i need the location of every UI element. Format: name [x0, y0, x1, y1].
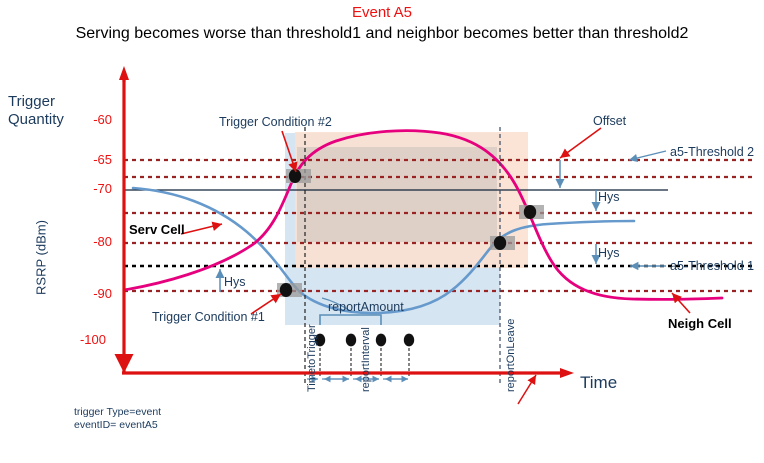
report-dot-4: [404, 334, 414, 347]
region-overlap-window: [297, 147, 497, 242]
x-axis-arrowhead: [560, 368, 574, 378]
leader-report-on-leave: [518, 375, 536, 404]
leader-serv-cell: [181, 224, 222, 234]
leader-neigh-cell: [672, 293, 690, 313]
marker-trigger-condition-2: [286, 169, 311, 183]
label-hys-top: Hys: [598, 190, 620, 204]
label-trigger-condition-1: Trigger Condition #1: [152, 310, 265, 324]
plot-canvas: [0, 0, 764, 463]
label-offset: Offset: [593, 114, 626, 128]
label-hys-left: Hys: [224, 275, 246, 289]
label-report-on-leave: reportOnLeave: [505, 319, 517, 392]
leader-a5-threshold-2: [629, 151, 666, 160]
report-dot-3: [376, 334, 386, 347]
marker-leave-condition-neighbor: [519, 205, 544, 219]
leader-offset: [560, 128, 601, 158]
label-hys-bottom: Hys: [598, 246, 620, 260]
report-dot-2: [346, 334, 356, 347]
label-neigh-cell: Neigh Cell: [668, 316, 732, 331]
label-report-interval: reportInterval: [360, 327, 372, 392]
label-a5-threshold-1: a5-Threshold 1: [670, 259, 754, 273]
y-axis-arrowhead: [119, 66, 129, 80]
label-trigger-meta: trigger Type=event eventID= eventA5: [74, 406, 161, 432]
label-time-to-trigger: TimetoTrigger: [306, 324, 318, 392]
label-report-amount: reportAmount: [328, 300, 404, 314]
label-trigger-condition-2: Trigger Condition #2: [219, 115, 332, 129]
label-a5-threshold-2: a5-Threshold 2: [670, 145, 754, 159]
label-serv-cell: Serv Cell: [129, 222, 185, 237]
diagram-root: Event A5 Serving becomes worse than thre…: [0, 0, 764, 463]
marker-leave-condition-serving: [490, 236, 515, 250]
